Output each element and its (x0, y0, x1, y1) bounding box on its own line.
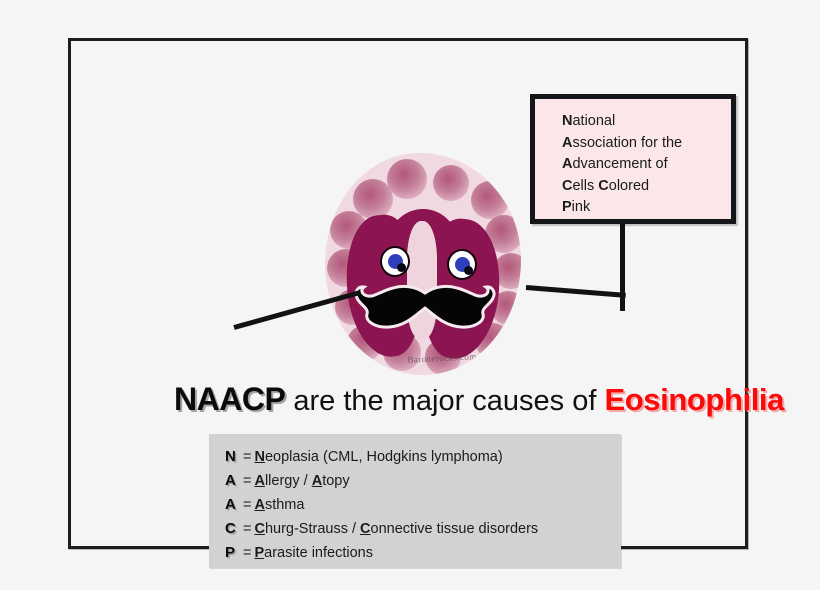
mustache-icon (353, 283, 497, 329)
headline-acronym: NAACP (174, 381, 285, 417)
bilobed-nucleus (325, 153, 521, 375)
callout-initial: P (562, 199, 572, 215)
callout-initial: A (562, 135, 572, 151)
national-association-callout: NationalAssociation for theAdvancement o… (530, 94, 736, 224)
legend-equals-sign: = (240, 497, 254, 513)
legend-equals-sign: = (240, 473, 254, 489)
pupil-right (464, 266, 473, 275)
legend-initial: A (254, 497, 264, 513)
legend-row: P=Parasite infections (225, 541, 621, 565)
legend-row-list: N=Neoplasia (CML, Hodgkins lymphoma)A=Al… (225, 445, 621, 565)
page-title: NAACP are the major causes of Eosinophil… (139, 381, 819, 418)
callout-line: Association for the (562, 133, 731, 155)
callout-line-list: NationalAssociation for theAdvancement o… (562, 111, 731, 219)
legend-row: C=Churg-Strauss / Connective tissue diso… (225, 517, 621, 541)
callout-initial: A (562, 156, 572, 172)
eosinophil-cartoon: Baronerocks.com (321, 147, 529, 387)
callout-line: Pink (562, 197, 731, 219)
mnemonic-key-box: N=Neoplasia (CML, Hodgkins lymphoma)A=Al… (209, 434, 621, 568)
poster-frame: Baronerocks.com NationalAssociation for … (68, 38, 748, 549)
legend-row: N=Neoplasia (CML, Hodgkins lymphoma) (225, 445, 621, 469)
legend-initial: A (312, 473, 322, 489)
headline-term: Eosinophilia (604, 382, 784, 417)
callout-line: National (562, 111, 731, 133)
eye-left-icon (380, 246, 410, 277)
callout-initial: N (562, 113, 572, 129)
headline-middle-text: are the major causes of (285, 385, 604, 417)
iris-right (455, 257, 470, 272)
legend-key-letter: C (225, 517, 240, 541)
legend-equals-sign: = (240, 545, 254, 561)
legend-row: A=Allergy / Atopy (225, 469, 621, 493)
legend-initial: A (254, 473, 264, 489)
legend-initial: P (254, 545, 264, 561)
legend-initial: N (254, 449, 264, 465)
legend-row: A=Asthma (225, 493, 621, 517)
legend-initial: C (254, 521, 264, 537)
legend-equals-sign: = (240, 449, 254, 465)
legend-equals-sign: = (240, 521, 254, 537)
callout-line: Advancement of (562, 154, 731, 176)
legend-key-letter: N (225, 445, 240, 469)
pointer-line-right (526, 285, 626, 298)
legend-key-letter: A (225, 469, 240, 493)
legend-key-letter: A (225, 493, 240, 517)
cell-cytoplasm: Baronerocks.com (325, 153, 521, 375)
figure-canvas: Baronerocks.com NationalAssociation for … (0, 0, 820, 590)
iris-left (388, 254, 403, 269)
pupil-left (397, 263, 406, 272)
callout-initial: C (598, 178, 608, 194)
legend-key-letter: P (225, 541, 240, 565)
eye-right-icon (447, 249, 477, 280)
pointer-line-vertical (620, 223, 625, 311)
callout-line: Cells Colored (562, 176, 731, 198)
legend-initial: C (360, 521, 370, 537)
callout-initial: C (562, 178, 572, 194)
